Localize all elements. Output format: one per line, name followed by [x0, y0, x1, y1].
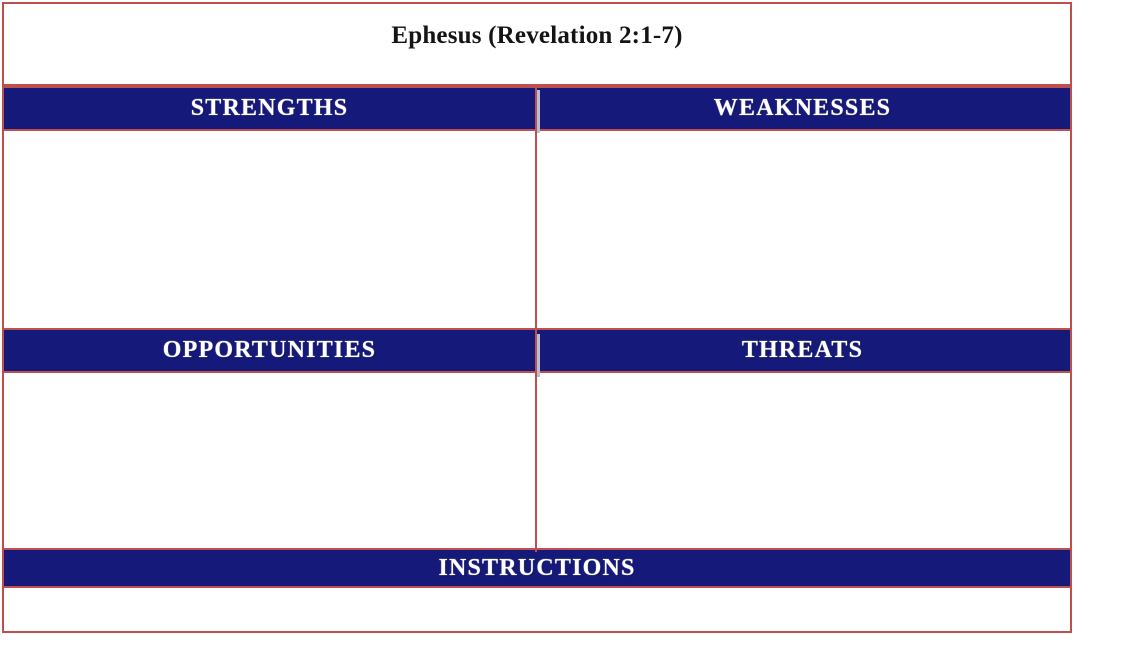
- strengths-weaknesses-content-row: [4, 131, 1070, 328]
- swot-page: Ephesus (Revelation 2:1-7) STRENGTHS WEA…: [0, 0, 1126, 667]
- content-cell-instructions[interactable]: [4, 588, 1070, 626]
- header-cell-opportunities: OPPORTUNITIES: [4, 330, 535, 371]
- content-cell-threats[interactable]: [535, 373, 1070, 548]
- quadrant-divider-sliver-top: [537, 90, 540, 133]
- quadrant-divider-sliver-middle: [537, 334, 540, 377]
- opportunities-threats-content-row: [4, 373, 1070, 548]
- content-cell-strengths[interactable]: [4, 131, 535, 328]
- header-cell-weaknesses: WEAKNESSES: [535, 88, 1070, 129]
- content-cell-opportunities[interactable]: [4, 373, 535, 548]
- title-row: Ephesus (Revelation 2:1-7): [4, 4, 1070, 86]
- content-cell-weaknesses[interactable]: [535, 131, 1070, 328]
- threats-label: THREATS: [742, 337, 863, 364]
- header-cell-strengths: STRENGTHS: [4, 88, 535, 129]
- strengths-label: STRENGTHS: [191, 95, 349, 122]
- swot-table: Ephesus (Revelation 2:1-7) STRENGTHS WEA…: [2, 2, 1072, 633]
- instructions-header-band: INSTRUCTIONS: [4, 548, 1070, 588]
- instructions-label: INSTRUCTIONS: [438, 555, 635, 582]
- page-title: Ephesus (Revelation 2:1-7): [391, 23, 682, 66]
- instructions-content-row: [4, 588, 1070, 626]
- header-cell-threats: THREATS: [535, 330, 1070, 371]
- weaknesses-label: WEAKNESSES: [714, 95, 891, 122]
- quadrant-vertical-divider: [535, 86, 537, 552]
- opportunities-label: OPPORTUNITIES: [163, 337, 376, 364]
